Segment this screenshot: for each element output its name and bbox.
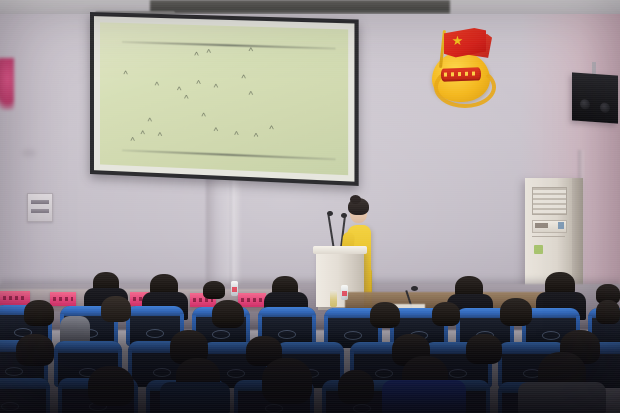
audience-head bbox=[203, 281, 225, 299]
ac-seam bbox=[532, 236, 565, 237]
microphone-head bbox=[341, 213, 347, 218]
audience-torso bbox=[160, 382, 230, 413]
bird-icon bbox=[156, 133, 163, 138]
projection-screen bbox=[90, 12, 359, 186]
auditorium-photo bbox=[0, 0, 620, 413]
audience-head bbox=[212, 300, 244, 328]
wall-smudge bbox=[22, 149, 36, 157]
water-bottle bbox=[330, 290, 337, 307]
bird-icon bbox=[205, 50, 212, 55]
audience-head bbox=[596, 300, 620, 324]
bird-icon bbox=[154, 82, 161, 87]
seat[interactable] bbox=[0, 378, 50, 413]
slide-rule-top bbox=[122, 41, 336, 50]
ac-brand-logo bbox=[535, 223, 548, 228]
bird-icon bbox=[247, 48, 254, 53]
emblem-red-banner bbox=[441, 67, 481, 81]
seat-logo bbox=[344, 331, 362, 340]
ceiling-shadow bbox=[150, 0, 450, 14]
bird-icon bbox=[139, 130, 146, 135]
water-bottle bbox=[231, 281, 238, 296]
audience-head bbox=[370, 302, 400, 328]
speaker-cone bbox=[600, 102, 610, 113]
bird-icon bbox=[232, 131, 239, 136]
communist-youth-league-emblem bbox=[428, 26, 500, 104]
audience-head bbox=[16, 334, 54, 366]
bird-icon bbox=[247, 91, 254, 96]
audience-head bbox=[338, 370, 374, 404]
seat-logo bbox=[153, 368, 171, 377]
audience-head bbox=[432, 302, 460, 326]
seat-logo bbox=[278, 330, 296, 339]
audience-head bbox=[500, 298, 532, 326]
ac-display bbox=[558, 222, 564, 229]
audience-head bbox=[466, 334, 502, 364]
wall-vent-panel bbox=[27, 193, 53, 222]
bird-icon bbox=[213, 128, 220, 133]
seat-logo bbox=[5, 367, 23, 376]
ac-grille bbox=[532, 187, 567, 215]
bird-icon bbox=[213, 85, 220, 90]
bird-icon bbox=[176, 87, 183, 92]
star-icon bbox=[451, 34, 464, 47]
bird-icon bbox=[252, 134, 259, 139]
audience-torso bbox=[60, 316, 90, 342]
vent-slat-bottom bbox=[31, 209, 49, 213]
presenter-hair-bun bbox=[350, 195, 361, 204]
audience-torso bbox=[518, 382, 606, 413]
water-bottle bbox=[341, 285, 348, 300]
seat-logo bbox=[1, 402, 19, 411]
name-card bbox=[238, 293, 266, 307]
wall-speaker bbox=[572, 72, 618, 123]
bird-icon bbox=[200, 113, 207, 118]
audience-head bbox=[24, 300, 54, 326]
bird-icon bbox=[195, 81, 202, 86]
audience-head bbox=[101, 296, 131, 322]
bird-icon bbox=[146, 118, 153, 123]
bird-icon bbox=[193, 52, 200, 57]
ac-sticker bbox=[534, 245, 543, 254]
bird-icon bbox=[240, 75, 247, 80]
pink-wall-object bbox=[0, 58, 14, 110]
seat-logo bbox=[375, 369, 393, 378]
lectern-top bbox=[313, 246, 367, 254]
slide-rule-bottom bbox=[122, 149, 336, 160]
bird-icon bbox=[122, 71, 129, 76]
seat-logo bbox=[449, 369, 467, 378]
seat-logo bbox=[227, 369, 245, 378]
bird-icon bbox=[129, 137, 136, 142]
vent-slat-top bbox=[31, 200, 49, 204]
audience-head bbox=[88, 366, 134, 406]
seat-logo bbox=[353, 404, 371, 413]
screen-projected-slide bbox=[100, 22, 348, 175]
seat-logo bbox=[146, 329, 164, 338]
seat-logo bbox=[212, 330, 230, 339]
audience-head bbox=[262, 358, 312, 404]
speaker-cone bbox=[580, 99, 590, 110]
seat-logo bbox=[542, 331, 560, 340]
name-card bbox=[50, 292, 76, 306]
microphone-head bbox=[327, 211, 333, 216]
audience-hoodie bbox=[382, 380, 466, 413]
table-microphone-head bbox=[411, 286, 418, 291]
bird-icon bbox=[183, 95, 190, 100]
name-card bbox=[0, 291, 30, 305]
bird-icon bbox=[267, 125, 274, 130]
seat-logo bbox=[265, 404, 283, 413]
